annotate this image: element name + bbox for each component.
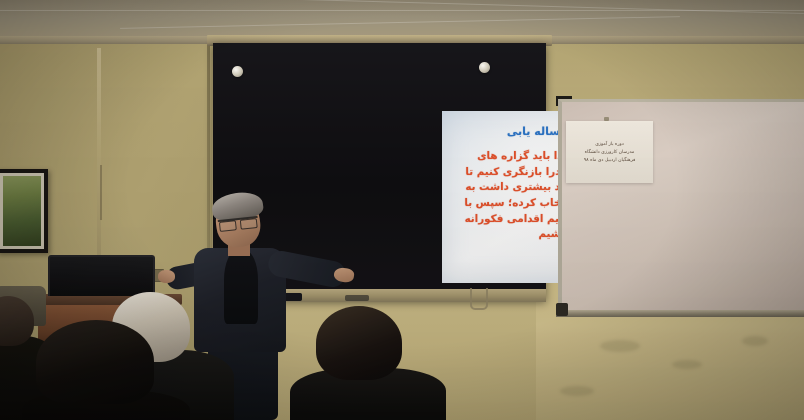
screen-screw-icon — [232, 66, 243, 77]
classroom-photo: ۴-قضاوت و مساله یابی قبل از هر داوری ابت… — [0, 0, 804, 420]
screen-screw-icon — [479, 62, 490, 73]
poster-line: دوره باز آموزی — [595, 142, 624, 147]
audience-head — [36, 320, 154, 404]
course-poster: دوره باز آموزی مدرسان کارورزی دانشگاه فر… — [566, 121, 653, 183]
wall-scuff — [600, 340, 640, 352]
wall-scuff — [742, 336, 768, 346]
whiteboard-marker-tray — [556, 310, 804, 317]
presenter-shirt — [224, 250, 258, 324]
poster-line: مدرسان کارورزی دانشگاه — [585, 150, 635, 155]
whiteboard-corner-bracket — [556, 303, 568, 316]
picture-image — [3, 176, 41, 246]
laptop[interactable] — [48, 255, 155, 296]
screen-hook-icon — [470, 288, 488, 310]
wall-scuff — [672, 360, 702, 369]
poster-line: فرهنگیان اردبیل دی ماه ۹۸ — [584, 158, 636, 163]
presenter-left-hand — [158, 270, 175, 283]
screen-rail-clip — [345, 295, 369, 301]
audience-head — [316, 306, 402, 380]
wall-scuff — [560, 386, 594, 396]
audience-member — [304, 306, 430, 420]
framed-landscape-picture — [0, 169, 48, 253]
wall-panel-joint — [100, 165, 102, 220]
picture-mat — [0, 173, 44, 249]
audience-member — [36, 320, 174, 420]
